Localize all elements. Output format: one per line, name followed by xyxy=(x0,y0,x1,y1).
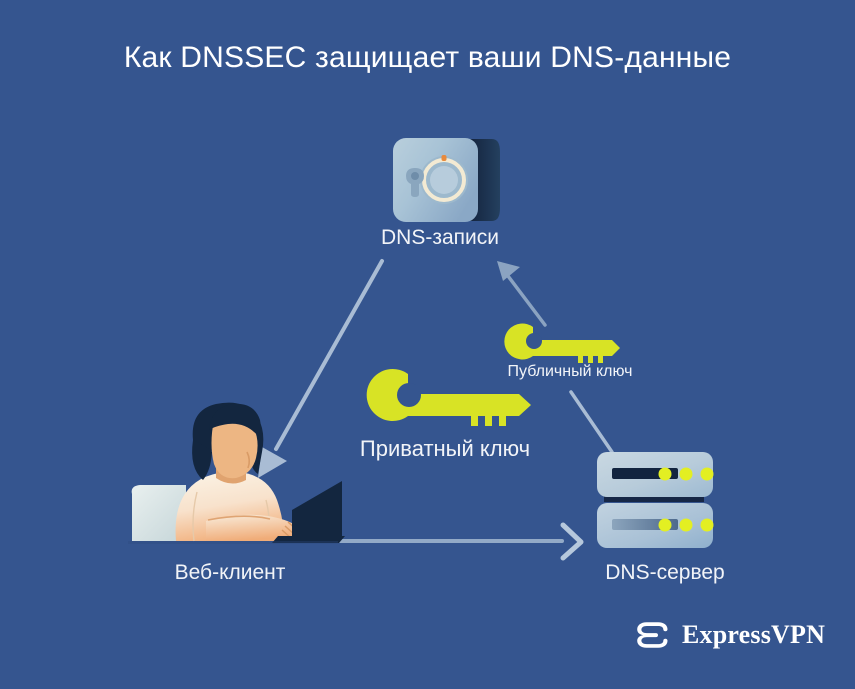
node-label-dns-records: DNS-записи xyxy=(290,226,590,250)
key-label-private-key: Приватный ключ xyxy=(275,436,615,462)
keys-layer xyxy=(0,0,855,689)
node-label-dns-server: DNS-сервер xyxy=(515,561,815,585)
expressvpn-logo: ExpressVPN xyxy=(636,618,825,652)
infographic-canvas: Как DNSSEC защищает ваши DNS-данные xyxy=(0,0,855,689)
node-label-web-client: Веб-клиент xyxy=(80,561,380,585)
public-key-icon xyxy=(504,324,620,364)
expressvpn-e-logo-icon xyxy=(636,620,672,650)
key-label-public-key: Публичный ключ xyxy=(400,363,740,381)
expressvpn-wordmark: ExpressVPN xyxy=(682,622,825,648)
